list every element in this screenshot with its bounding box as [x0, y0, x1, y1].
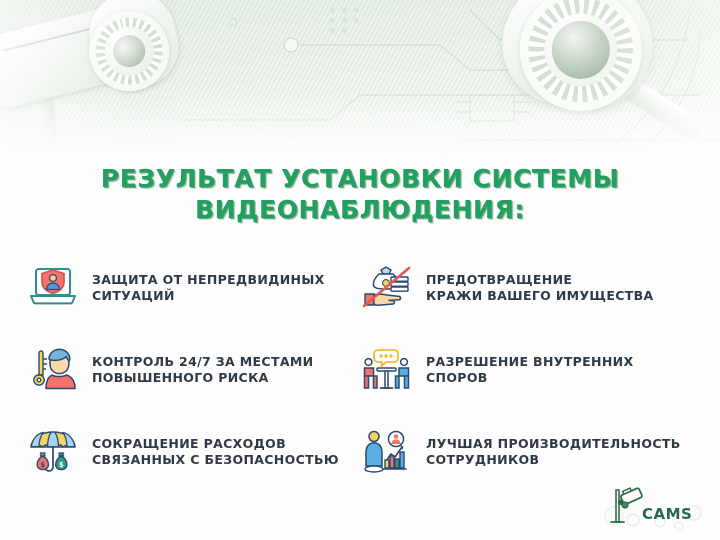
feature-label-line2: СОТРУДНИКОВ	[426, 452, 539, 467]
feature-label-line2: СПОРОВ	[426, 370, 488, 385]
banner-bottom-fade	[0, 0, 720, 175]
umbrella-money-bags-icon: $ $	[26, 425, 80, 479]
title-line-1: РЕЗУЛЬТАТ УСТАНОВКИ СИСТЕМЫ	[0, 163, 720, 194]
feature-item-dispute-resolution: РАЗРЕШЕНИЕ ВНУТРЕННИХ СПОРОВ	[360, 334, 694, 406]
employee-performance-chart-icon	[360, 425, 414, 479]
feature-label: РАЗРЕШЕНИЕ ВНУТРЕННИХ СПОРОВ	[426, 354, 633, 387]
svg-text:$: $	[59, 461, 64, 469]
brand-logo[interactable]: CAMS	[602, 482, 706, 532]
feature-label-line1: ЛУЧШАЯ ПРОИЗВОДИТЕЛЬНОСТЬ	[426, 436, 681, 451]
feature-label-line1: ЗАЩИТА ОТ НЕПРЕДВИДИНЫХ	[92, 272, 325, 287]
logo-text: CAMS	[642, 505, 692, 523]
feature-item-protection: ЗАЩИТА ОТ НЕПРЕДВИДИНЫХ СИТУАЦИЙ	[26, 252, 360, 324]
key-guard-icon	[26, 343, 80, 397]
feature-grid: ЗАЩИТА ОТ НЕПРЕДВИДИНЫХ СИТУАЦИЙ	[26, 252, 694, 488]
feature-label: ЛУЧШАЯ ПРОИЗВОДИТЕЛЬНОСТЬ СОТРУДНИКОВ	[426, 436, 681, 469]
feature-label-line1: ПРЕДОТВРАЩЕНИЕ	[426, 272, 572, 287]
feature-label-line2: ПОВЫШЕННОГО РИСКА	[92, 370, 269, 385]
feature-item-risk-monitoring: КОНТРОЛЬ 24/7 ЗА МЕСТАМИ ПОВЫШЕННОГО РИС…	[26, 334, 360, 406]
hero-banner	[0, 0, 720, 175]
feature-item-employee-performance: ЛУЧШАЯ ПРОИЗВОДИТЕЛЬНОСТЬ СОТРУДНИКОВ	[360, 416, 694, 488]
feature-item-theft-prevention: ПРЕДОТВРАЩЕНИЕ КРАЖИ ВАШЕГО ИМУЩЕСТВА	[360, 252, 694, 324]
feature-label: ПРЕДОТВРАЩЕНИЕ КРАЖИ ВАШЕГО ИМУЩЕСТВА	[426, 272, 654, 305]
no-theft-hand-money-icon	[360, 261, 414, 315]
feature-label: СОКРАЩЕНИЕ РАСХОДОВ СВЯЗАННЫХ С БЕЗОПАСН…	[92, 436, 339, 469]
feature-label-line1: КОНТРОЛЬ 24/7 ЗА МЕСТАМИ	[92, 354, 313, 369]
negotiation-table-icon	[360, 343, 414, 397]
title-line-2: ВИДЕОНАБЛЮДЕНИЯ:	[0, 194, 720, 225]
feature-item-cost-reduction: $ $ СОКРАЩЕНИЕ РАСХОДОВ СВЯЗАННЫХ С БЕЗО…	[26, 416, 360, 488]
feature-label-line2: СИТУАЦИЙ	[92, 288, 175, 303]
feature-label-line1: СОКРАЩЕНИЕ РАСХОДОВ	[92, 436, 286, 451]
svg-text:$: $	[40, 461, 45, 469]
poster-title: РЕЗУЛЬТАТ УСТАНОВКИ СИСТЕМЫ ВИДЕОНАБЛЮДЕ…	[0, 163, 720, 225]
laptop-shield-person-icon	[26, 261, 80, 315]
feature-label-line2: КРАЖИ ВАШЕГО ИМУЩЕСТВА	[426, 288, 654, 303]
feature-label-line2: СВЯЗАННЫХ С БЕЗОПАСНОСТЬЮ	[92, 452, 339, 467]
feature-label-line1: РАЗРЕШЕНИЕ ВНУТРЕННИХ	[426, 354, 633, 369]
feature-label: ЗАЩИТА ОТ НЕПРЕДВИДИНЫХ СИТУАЦИЙ	[92, 272, 325, 305]
poster-root: РЕЗУЛЬТАТ УСТАНОВКИ СИСТЕМЫ ВИДЕОНАБЛЮДЕ…	[0, 0, 720, 540]
feature-label: КОНТРОЛЬ 24/7 ЗА МЕСТАМИ ПОВЫШЕННОГО РИС…	[92, 354, 313, 387]
